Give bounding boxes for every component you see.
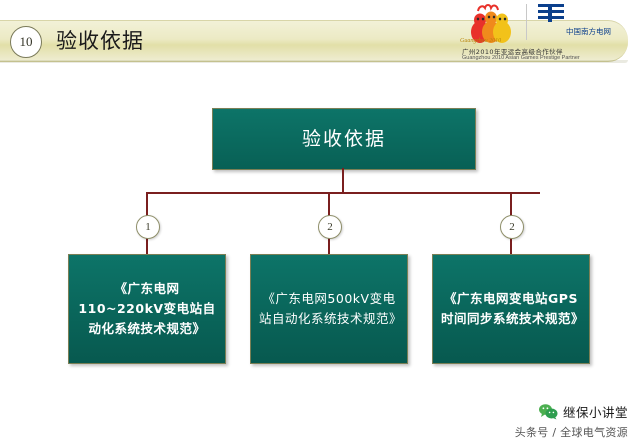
diagram-node-1-label: 《广东电网110~220kV变电站自动化系统技术规范》 [77,279,217,339]
wechat-account-name: 继保小讲堂 [563,402,628,421]
node-badge-2: 2 [318,215,342,239]
node-badge-1: 1 [136,215,160,239]
partner-caption-en: Guangzhou 2010 Asian Games Prestige Part… [462,55,580,61]
connector-badge-1-to-box [146,237,148,255]
source-attribution: 头条号 / 全球电气资源 [515,424,628,440]
logo-divider [526,4,527,40]
wechat-account-badge: 继保小讲堂 [538,402,628,421]
slide-header: 10 验收依据 G [0,0,640,72]
wechat-icon [538,403,558,420]
connector-root-stem [342,168,344,192]
diagram-root-node: 验收依据 [212,108,476,170]
mascot-wordmark: Guangzhou 2010 [460,38,501,44]
csg-logo-text: 中国南方电网 [566,26,611,37]
slide: 10 验收依据 G [0,0,640,443]
diagram-node-2-label: 《广东电网500kV变电站自动化系统技术规范》 [259,289,399,329]
connector-badge-2-to-box [328,237,330,255]
connector-badge-3-to-box [510,237,512,255]
page-title: 验收依据 [56,27,144,55]
diagram-node-3: 《广东电网变电站GPS时间同步系统技术规范》 [432,254,590,364]
connector-horizontal-bar [146,192,540,194]
node-badge-3: 2 [500,215,524,239]
diagram-node-2: 《广东电网500kV变电站自动化系统技术规范》 [250,254,408,364]
partner-logo-zone: Guangzhou 2010 中国南方电网 广州2010年亚运会高级合作伙伴 G… [456,0,636,66]
slide-footer: 继保小讲堂 头条号 / 全球电气资源 [0,402,640,443]
diagram-node-3-label: 《广东电网变电站GPS时间同步系统技术规范》 [441,289,581,329]
diagram-node-1: 《广东电网110~220kV变电站自动化系统技术规范》 [68,254,226,364]
section-number-badge: 10 [10,26,42,58]
csg-logo: 中国南方电网 [536,2,632,42]
diagram-canvas: 验收依据 1 2 2 《广东电网110~220kV变电站自动化系统技术规范》 《… [0,72,640,402]
